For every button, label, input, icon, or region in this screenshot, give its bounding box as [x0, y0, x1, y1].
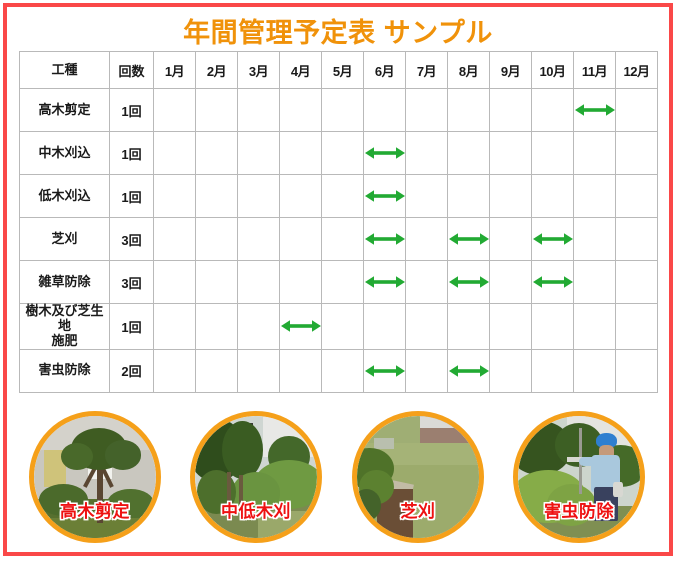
schedule-cell-empty	[196, 89, 238, 132]
header-month-1: 1月	[154, 52, 196, 89]
header-month-2: 2月	[196, 52, 238, 89]
schedule-arrow-icon	[533, 275, 573, 289]
table-row: 樹木及び芝生地施肥1回	[20, 304, 658, 350]
schedule-arrow-icon	[365, 275, 405, 289]
schedule-cell-empty	[448, 304, 490, 350]
schedule-cell-empty	[490, 89, 532, 132]
schedule-cell-empty	[574, 304, 616, 350]
table-row: 中木刈込1回	[20, 132, 658, 175]
schedule-cell-empty	[406, 89, 448, 132]
row-kind-label: 雑草防除	[20, 261, 110, 304]
header-month-7: 7月	[406, 52, 448, 89]
schedule-cell-empty	[280, 261, 322, 304]
schedule-cell-empty	[574, 349, 616, 392]
schedule-cell-marked	[364, 349, 406, 392]
schedule-cell-empty	[238, 304, 280, 350]
schedule-cell-empty	[322, 304, 364, 350]
header-month-11: 11月	[574, 52, 616, 89]
schedule-arrow-icon	[575, 103, 615, 117]
schedule-cell-empty	[322, 175, 364, 218]
schedule-cell-empty	[616, 175, 658, 218]
row-kind-label: 害虫防除	[20, 349, 110, 392]
schedule-cell-marked	[364, 261, 406, 304]
schedule-arrow-icon	[449, 232, 489, 246]
schedule-arrow-icon	[533, 232, 573, 246]
schedule-cell-empty	[364, 89, 406, 132]
row-kind-label: 高木剪定	[20, 89, 110, 132]
photo-1-caption: 高木剪定	[34, 497, 156, 522]
schedule-cell-marked	[532, 261, 574, 304]
schedule-cell-empty	[154, 218, 196, 261]
schedule-cell-marked	[532, 218, 574, 261]
row-kind-label: 低木刈込	[20, 175, 110, 218]
schedule-cell-empty	[574, 175, 616, 218]
schedule-cell-empty	[154, 175, 196, 218]
header-month-6: 6月	[364, 52, 406, 89]
schedule-cell-marked	[364, 175, 406, 218]
page-frame: 年間管理予定表 サンプル 工種 回数 1月 2月 3月 4月 5月 6月 7月 …	[3, 3, 673, 556]
schedule-cell-empty	[154, 89, 196, 132]
header-row: 工種 回数 1月 2月 3月 4月 5月 6月 7月 8月 9月 10月 11月…	[20, 52, 658, 89]
row-count-value: 3回	[110, 261, 154, 304]
schedule-cell-empty	[154, 349, 196, 392]
row-count-value: 2回	[110, 349, 154, 392]
schedule-arrow-icon	[449, 364, 489, 378]
schedule-cell-marked	[574, 89, 616, 132]
schedule-cell-empty	[322, 218, 364, 261]
schedule-cell-empty	[532, 175, 574, 218]
schedule-cell-empty	[406, 218, 448, 261]
schedule-arrow-icon	[365, 146, 405, 160]
schedule-cell-empty	[196, 304, 238, 350]
schedule-arrow-icon	[281, 319, 321, 333]
schedule-cell-empty	[532, 304, 574, 350]
schedule-cell-empty	[280, 89, 322, 132]
schedule-cell-empty	[406, 132, 448, 175]
schedule-cell-marked	[364, 218, 406, 261]
schedule-cell-marked	[448, 218, 490, 261]
schedule-cell-empty	[238, 218, 280, 261]
schedule-cell-empty	[448, 89, 490, 132]
schedule-cell-empty	[490, 218, 532, 261]
schedule-cell-empty	[616, 304, 658, 350]
photo-shibakari: 芝刈	[352, 411, 484, 543]
schedule-cell-empty	[490, 132, 532, 175]
header-month-8: 8月	[448, 52, 490, 89]
schedule-cell-empty	[196, 175, 238, 218]
schedule-cell-marked	[448, 261, 490, 304]
table-row: 低木刈込1回	[20, 175, 658, 218]
header-kind: 工種	[20, 52, 110, 89]
schedule-cell-empty	[154, 261, 196, 304]
row-kind-label: 芝刈	[20, 218, 110, 261]
header-month-3: 3月	[238, 52, 280, 89]
row-count-value: 1回	[110, 132, 154, 175]
schedule-cell-empty	[406, 304, 448, 350]
schedule-cell-empty	[154, 304, 196, 350]
row-count-value: 1回	[110, 175, 154, 218]
schedule-cell-marked	[364, 132, 406, 175]
schedule-cell-empty	[238, 349, 280, 392]
schedule-cell-empty	[322, 89, 364, 132]
table-row: 芝刈3回	[20, 218, 658, 261]
schedule-arrow-icon	[365, 364, 405, 378]
row-count-value: 1回	[110, 304, 154, 350]
schedule-cell-empty	[406, 349, 448, 392]
schedule-arrow-icon	[449, 275, 489, 289]
schedule-cell-empty	[154, 132, 196, 175]
schedule-arrow-icon	[365, 189, 405, 203]
schedule-cell-empty	[616, 218, 658, 261]
header-month-4: 4月	[280, 52, 322, 89]
schedule-cell-empty	[196, 218, 238, 261]
schedule-cell-empty	[532, 132, 574, 175]
schedule-arrow-icon	[365, 232, 405, 246]
schedule-cell-empty	[574, 132, 616, 175]
row-kind-label: 樹木及び芝生地施肥	[20, 304, 110, 350]
schedule-cell-empty	[490, 349, 532, 392]
schedule-cell-empty	[532, 89, 574, 132]
schedule-cell-empty	[322, 349, 364, 392]
schedule-cell-marked	[280, 304, 322, 350]
schedule-cell-empty	[280, 349, 322, 392]
schedule-cell-empty	[364, 304, 406, 350]
schedule-cell-empty	[322, 261, 364, 304]
schedule-cell-empty	[532, 349, 574, 392]
header-month-5: 5月	[322, 52, 364, 89]
schedule-cell-empty	[238, 261, 280, 304]
schedule-cell-empty	[196, 349, 238, 392]
photo-gaichu-bojo: 害虫防除	[513, 411, 645, 543]
schedule-cell-empty	[322, 132, 364, 175]
schedule-cell-empty	[238, 175, 280, 218]
schedule-cell-empty	[490, 175, 532, 218]
schedule-cell-empty	[406, 175, 448, 218]
row-kind-label: 中木刈込	[20, 132, 110, 175]
header-count: 回数	[110, 52, 154, 89]
table-header: 工種 回数 1月 2月 3月 4月 5月 6月 7月 8月 9月 10月 11月…	[20, 52, 658, 89]
schedule-cell-empty	[616, 132, 658, 175]
schedule-cell-empty	[616, 349, 658, 392]
schedule-cell-empty	[280, 218, 322, 261]
table-row: 雑草防除3回	[20, 261, 658, 304]
schedule-cell-empty	[238, 89, 280, 132]
table-row: 高木剪定1回	[20, 89, 658, 132]
schedule-cell-empty	[490, 304, 532, 350]
schedule-cell-empty	[406, 261, 448, 304]
schedule-cell-empty	[280, 175, 322, 218]
schedule-cell-marked	[448, 349, 490, 392]
schedule-cell-empty	[448, 175, 490, 218]
schedule-cell-empty	[448, 132, 490, 175]
schedule-cell-empty	[196, 132, 238, 175]
row-count-value: 1回	[110, 89, 154, 132]
schedule-cell-empty	[196, 261, 238, 304]
photo-2-caption: 中低木刈	[195, 497, 317, 522]
photo-gallery: 高木剪定 中低木刈	[7, 405, 669, 556]
header-month-10: 10月	[532, 52, 574, 89]
table-row: 害虫防除2回	[20, 349, 658, 392]
schedule-cell-empty	[574, 218, 616, 261]
schedule-cell-empty	[616, 261, 658, 304]
schedule-cell-empty	[574, 261, 616, 304]
schedule-cell-empty	[490, 261, 532, 304]
annual-schedule-table: 工種 回数 1月 2月 3月 4月 5月 6月 7月 8月 9月 10月 11月…	[19, 51, 658, 393]
photo-4-caption: 害虫防除	[518, 497, 640, 522]
header-month-12: 12月	[616, 52, 658, 89]
photo-chuteiboku-kari: 中低木刈	[190, 411, 322, 543]
schedule-cell-empty	[238, 132, 280, 175]
row-count-value: 3回	[110, 218, 154, 261]
photo-takagi-sentei: 高木剪定	[29, 411, 161, 543]
schedule-cell-empty	[616, 89, 658, 132]
page-title: 年間管理予定表 サンプル	[7, 11, 669, 50]
schedule-cell-empty	[280, 132, 322, 175]
table-body: 高木剪定1回中木刈込1回低木刈込1回芝刈3回雑草防除3回樹木及び芝生地施肥1回害…	[20, 89, 658, 393]
photo-3-caption: 芝刈	[357, 497, 479, 522]
header-month-9: 9月	[490, 52, 532, 89]
